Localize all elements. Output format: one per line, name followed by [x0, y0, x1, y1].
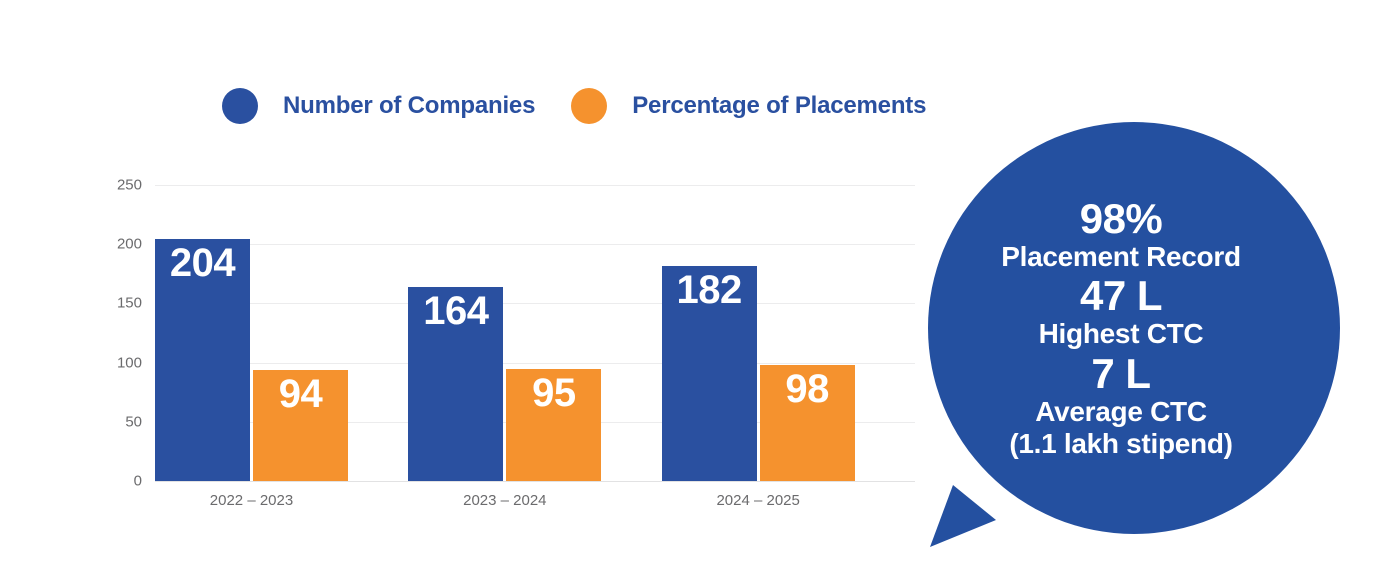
callout-line: Highest CTC — [886, 318, 1356, 350]
y-axis-tick-label: 50 — [98, 413, 142, 430]
callout-line: (1.1 lakh stipend) — [886, 428, 1356, 460]
bar-groups: 204942022 – 2023164952023 – 202418298202… — [155, 185, 915, 481]
bar-value-label: 164 — [408, 291, 503, 331]
legend-label: Percentage of Placements — [632, 92, 926, 120]
callout-line: 98% — [886, 196, 1356, 241]
gridline — [155, 481, 915, 482]
y-axis-tick-label: 0 — [98, 473, 142, 490]
y-axis-tick-label: 100 — [98, 354, 142, 371]
legend-item-number-of-companies[interactable]: Number of Companies — [222, 88, 535, 124]
circle-icon — [571, 88, 607, 124]
stats-callout-bubble: 98%Placement Record47 LHighest CTC7 LAve… — [886, 110, 1356, 570]
bar-value-label: 95 — [506, 373, 601, 413]
y-axis-tick-label: 250 — [98, 177, 142, 194]
x-axis-tick-label: 2024 – 2025 — [662, 492, 855, 509]
x-axis-tick-label: 2022 – 2023 — [155, 492, 348, 509]
bar[interactable]: 95 — [506, 369, 601, 481]
legend-label: Number of Companies — [283, 92, 535, 120]
bar-value-label: 94 — [253, 374, 348, 414]
callout-text: 98%Placement Record47 LHighest CTC7 LAve… — [886, 196, 1356, 461]
bar[interactable]: 98 — [760, 365, 855, 481]
bar-group: 164952023 – 2024 — [408, 185, 661, 481]
circle-icon — [222, 88, 258, 124]
y-axis: 050100150200250 — [98, 185, 142, 481]
callout-line: 47 L — [886, 273, 1356, 318]
bar[interactable]: 94 — [253, 370, 348, 481]
bar[interactable]: 164 — [408, 287, 503, 481]
x-axis-tick-label: 2023 – 2024 — [408, 492, 601, 509]
bar[interactable]: 182 — [662, 266, 757, 481]
bar[interactable]: 204 — [155, 239, 250, 481]
plot-area: 204942022 – 2023164952023 – 202418298202… — [155, 185, 915, 481]
y-axis-tick-label: 150 — [98, 295, 142, 312]
chart-legend: Number of Companies Percentage of Placem… — [222, 88, 926, 124]
grouped-bar-chart: 050100150200250 204942022 – 202316495202… — [0, 168, 940, 528]
y-axis-tick-label: 200 — [98, 236, 142, 253]
bar-group: 204942022 – 2023 — [155, 185, 408, 481]
callout-line: Placement Record — [886, 241, 1356, 273]
callout-line: Average CTC — [886, 396, 1356, 428]
bar-value-label: 204 — [155, 243, 250, 283]
callout-line: 7 L — [886, 351, 1356, 396]
bar-value-label: 182 — [662, 270, 757, 310]
placement-stats-infographic: Number of Companies Percentage of Placem… — [0, 0, 1387, 583]
bar-group: 182982024 – 2025 — [662, 185, 915, 481]
legend-item-percentage-of-placements[interactable]: Percentage of Placements — [571, 88, 926, 124]
bar-value-label: 98 — [760, 369, 855, 409]
